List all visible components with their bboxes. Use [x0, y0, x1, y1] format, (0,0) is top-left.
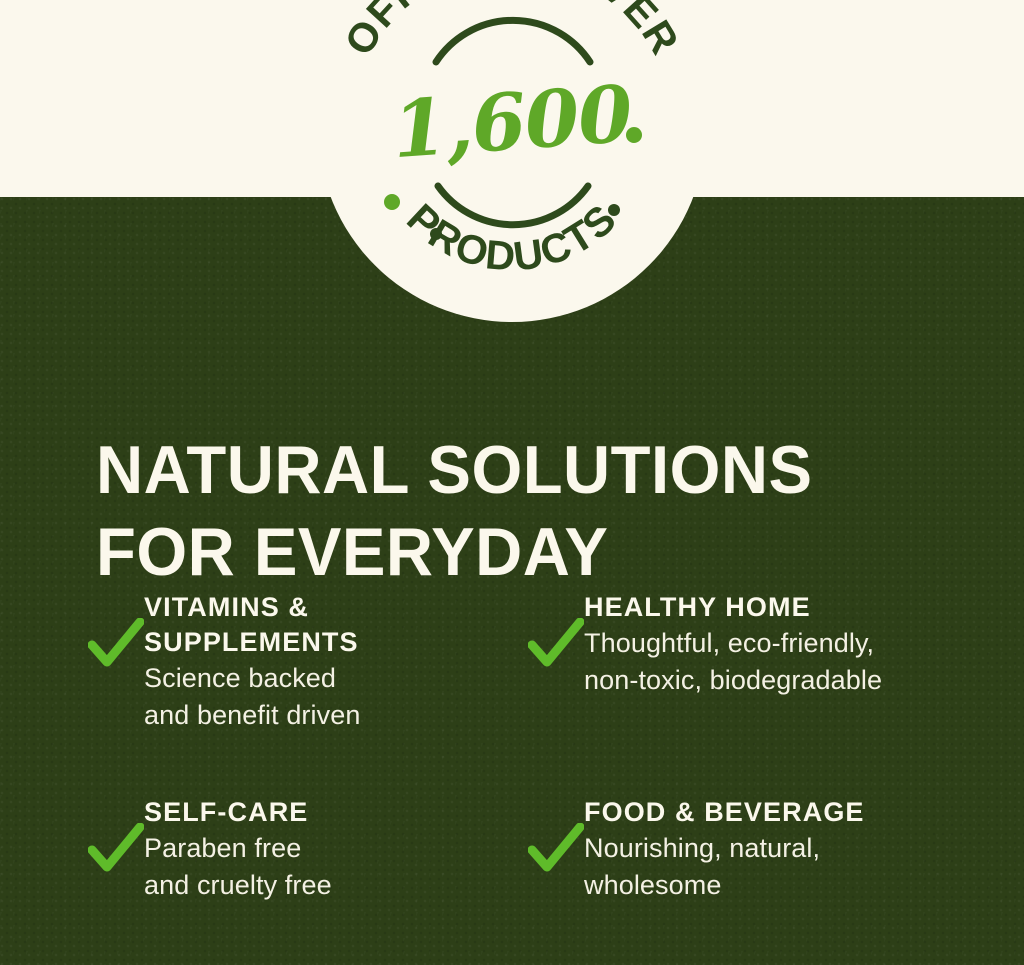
feature-description: Paraben free and cruelty free: [144, 830, 332, 904]
feature-description-line-1: Thoughtful, eco-friendly,: [584, 625, 882, 662]
products-count-badge: OFFERING OVER PRODUCTS 1,600: [318, 0, 706, 322]
feature-title-line-2: SUPPLEMENTS: [144, 625, 360, 660]
checkmark-icon: [88, 618, 144, 670]
headline-line-2: FOR EVERYDAY: [96, 511, 941, 593]
feature-description: Science backed and benefit driven: [144, 660, 360, 734]
feature-item-food-beverage: FOOD & BEVERAGE Nourishing, natural, who…: [528, 793, 988, 904]
page-title: NATURAL SOLUTIONS FOR EVERYDAY: [96, 429, 941, 593]
feature-description: Thoughtful, eco-friendly, non-toxic, bio…: [584, 625, 882, 699]
badge-dot-left-icon: [384, 194, 400, 210]
feature-grid: VITAMINS & SUPPLEMENTS Science backed an…: [88, 588, 988, 904]
badge-dot-lower-right-icon: [608, 204, 620, 216]
feature-item-healthy-home: HEALTHY HOME Thoughtful, eco-friendly, n…: [528, 588, 988, 793]
feature-description-line-2: and benefit driven: [144, 697, 360, 734]
checkmark-icon: [528, 823, 584, 875]
feature-description-line-2: non-toxic, biodegradable: [584, 662, 882, 699]
feature-text: VITAMINS & SUPPLEMENTS Science backed an…: [144, 588, 360, 734]
headline-line-1: NATURAL SOLUTIONS: [96, 429, 941, 511]
feature-title-line-1: VITAMINS &: [144, 590, 360, 625]
feature-description-line-1: Nourishing, natural,: [584, 830, 865, 867]
feature-title-line-1: HEALTHY HOME: [584, 590, 882, 625]
badge-arc-flourish-top-icon: [436, 20, 590, 62]
feature-title-line-1: SELF-CARE: [144, 795, 332, 830]
badge-arc-top-text: OFFERING OVER: [336, 0, 689, 63]
feature-description-line-1: Paraben free: [144, 830, 332, 867]
feature-item-vitamins-supplements: VITAMINS & SUPPLEMENTS Science backed an…: [88, 588, 528, 793]
feature-description: Nourishing, natural, wholesome: [584, 830, 865, 904]
checkmark-icon: [528, 618, 584, 670]
promo-poster: OFFERING OVER PRODUCTS 1,600 NATURAL SOL…: [0, 0, 1024, 965]
feature-description-line-1: Science backed: [144, 660, 360, 697]
feature-description-line-2: and cruelty free: [144, 867, 332, 904]
checkmark-icon: [88, 823, 144, 875]
feature-item-self-care: SELF-CARE Paraben free and cruelty free: [88, 793, 528, 904]
badge-dot-lower-left-icon: [430, 228, 442, 240]
feature-text: SELF-CARE Paraben free and cruelty free: [144, 793, 332, 904]
feature-text: FOOD & BEVERAGE Nourishing, natural, who…: [584, 793, 865, 904]
feature-text: HEALTHY HOME Thoughtful, eco-friendly, n…: [584, 588, 882, 699]
feature-title-line-1: FOOD & BEVERAGE: [584, 795, 865, 830]
feature-description-line-2: wholesome: [584, 867, 865, 904]
